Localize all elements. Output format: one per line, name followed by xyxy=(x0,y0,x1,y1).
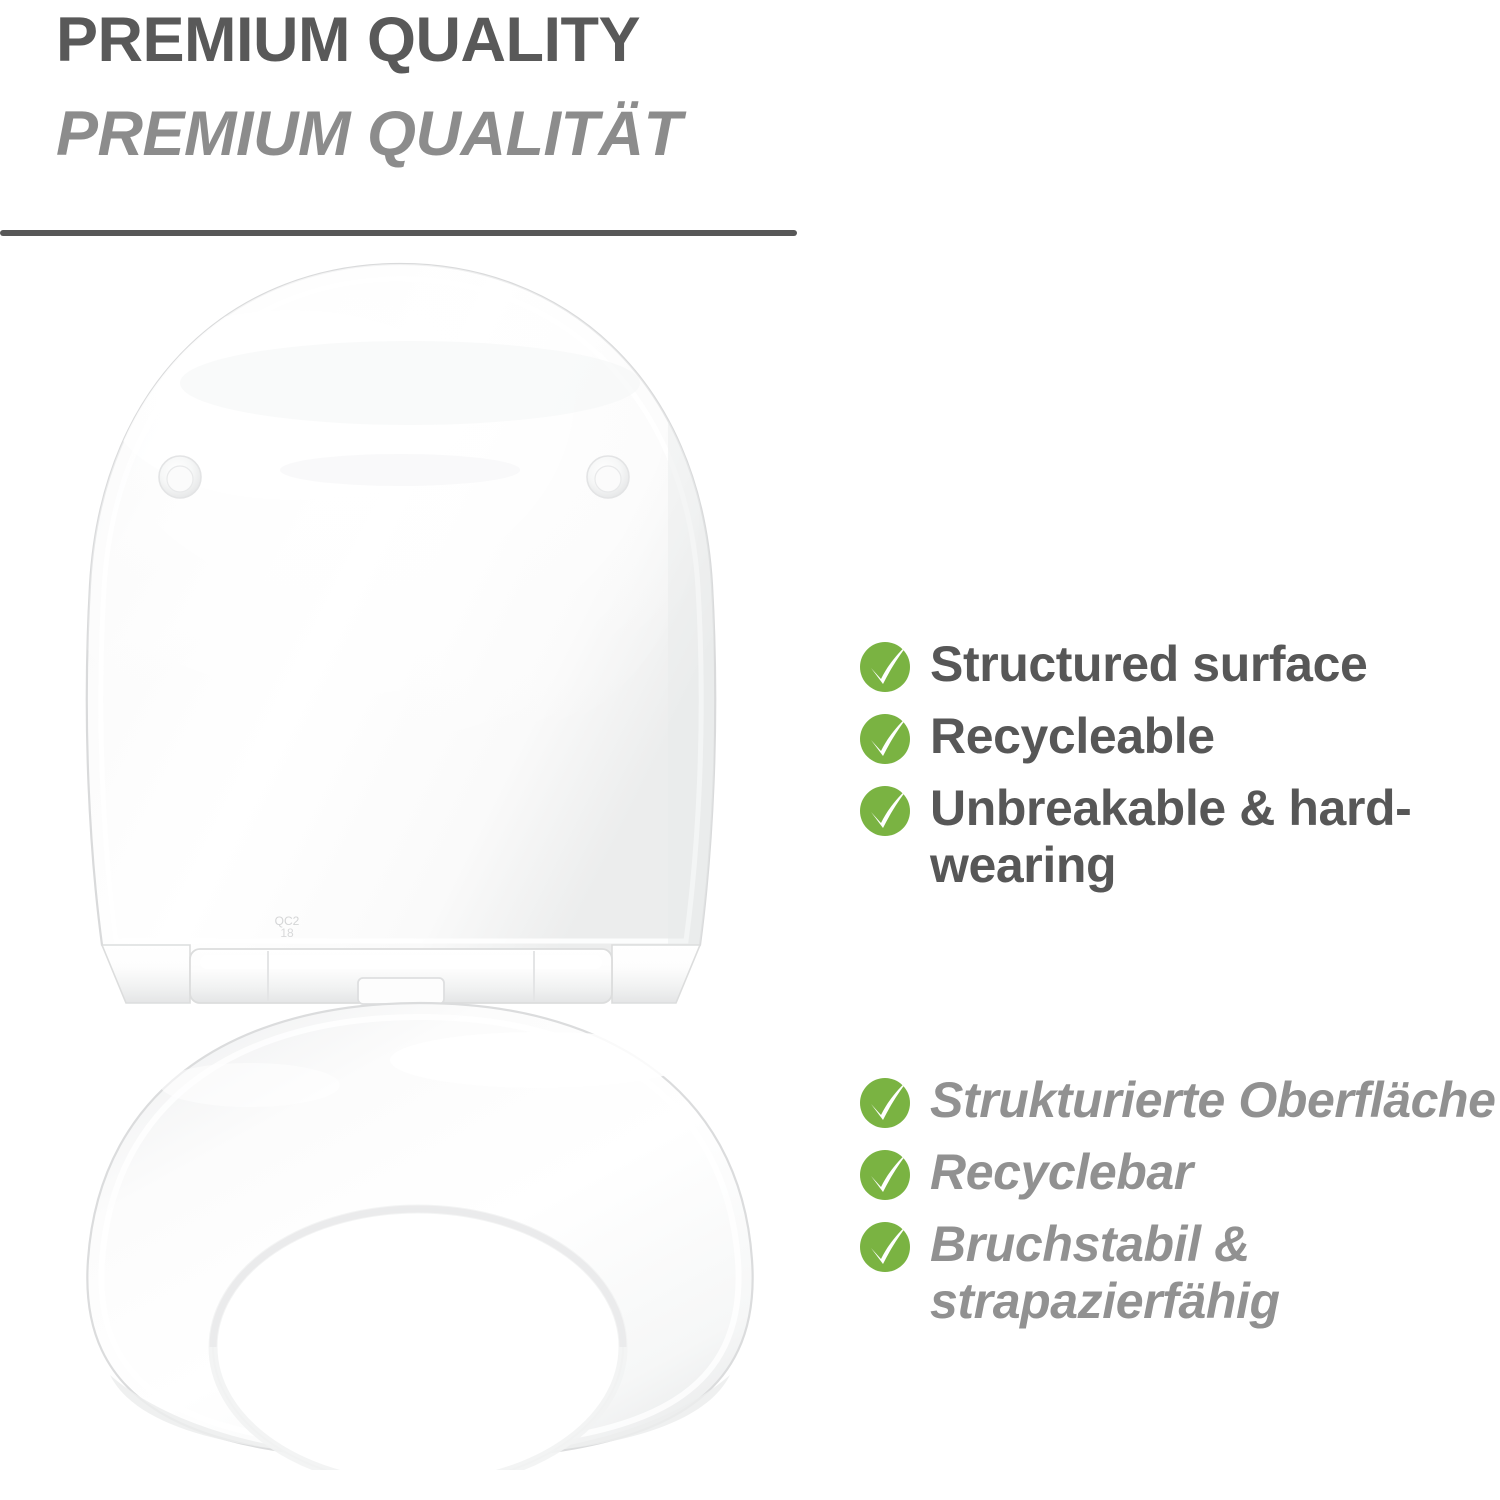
feature-label: Unbreakable & hard-wearing xyxy=(930,780,1500,894)
feature-label: Structured surface xyxy=(930,636,1367,693)
check-circle-icon xyxy=(858,1148,912,1202)
feature-item: Recycleable xyxy=(858,708,1500,766)
check-circle-icon xyxy=(858,1076,912,1130)
check-circle-icon xyxy=(858,784,912,838)
feature-label: Recyclebar xyxy=(930,1144,1193,1201)
seat-lid: QC2 18 xyxy=(40,255,715,955)
feature-list-german: Strukturierte Oberfläche Recyclebar Bruc… xyxy=(858,1072,1500,1330)
mold-marking-line2: 18 xyxy=(280,926,294,940)
lid-bumper-right xyxy=(587,456,629,498)
infographic-canvas: PREMIUM QUALITY PREMIUM QUALITÄT xyxy=(0,0,1500,1500)
feature-label: Strukturierte Oberfläche xyxy=(930,1072,1496,1129)
check-circle-icon xyxy=(858,712,912,766)
page-title-german: PREMIUM QUALITÄT xyxy=(56,96,681,173)
seat-hinge-bar xyxy=(102,945,700,1004)
feature-list-english: Structured surface Recycleable Unbreakab… xyxy=(858,636,1500,894)
seat-ring xyxy=(87,1003,752,1470)
feature-label: Recycleable xyxy=(930,708,1215,765)
hinge-release-tab xyxy=(358,978,444,1004)
check-circle-icon xyxy=(858,640,912,694)
feature-item: Bruchstabil & strapazierfähig xyxy=(858,1216,1500,1330)
feature-item: Structured surface xyxy=(858,636,1500,694)
feature-item: Strukturierte Oberfläche xyxy=(858,1072,1500,1130)
page-title-english: PREMIUM QUALITY xyxy=(56,2,640,79)
product-image-toilet-seat: QC2 18 xyxy=(40,255,800,1470)
feature-item: Recyclebar xyxy=(858,1144,1500,1202)
check-circle-icon xyxy=(858,1220,912,1274)
header-divider xyxy=(0,230,797,236)
feature-item: Unbreakable & hard-wearing xyxy=(858,780,1500,894)
feature-label: Bruchstabil & strapazierfähig xyxy=(930,1216,1500,1330)
lid-bumper-left xyxy=(159,456,201,498)
